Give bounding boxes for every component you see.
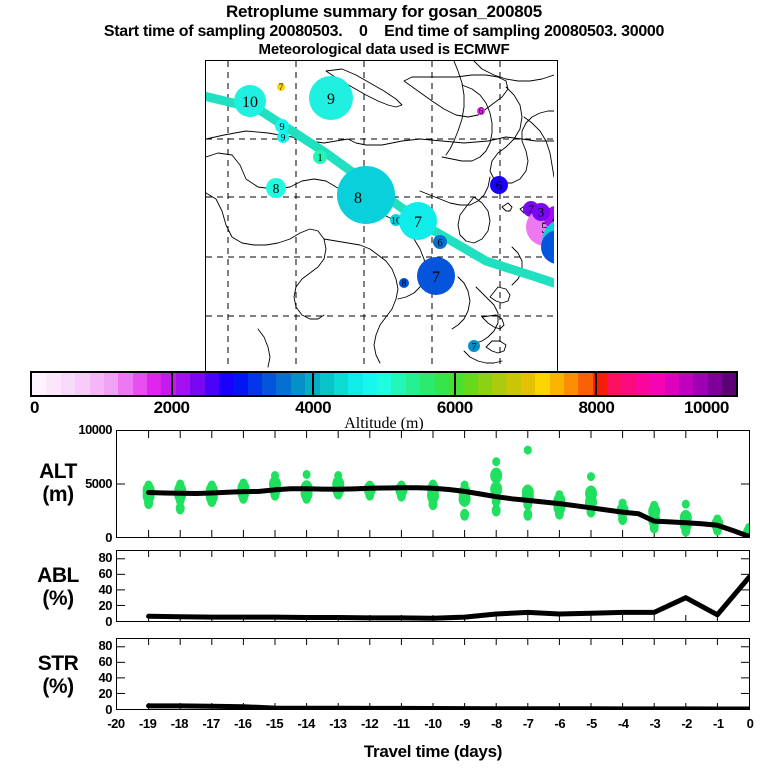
x-tick-label: -11 — [386, 716, 416, 731]
str-panel[interactable] — [116, 638, 750, 710]
colorbar-major-tick — [312, 371, 314, 397]
colorbar-major-tick — [454, 371, 456, 397]
x-tick-label: -9 — [450, 716, 480, 731]
alt-plot — [117, 431, 749, 537]
str-ytick-label: 0 — [105, 702, 112, 717]
abl-plot — [117, 551, 749, 621]
colorbar-band-15 — [248, 373, 262, 395]
colorbar-band-28 — [435, 373, 449, 395]
x-tick-label: -6 — [545, 716, 575, 731]
str-ytick-label: 20 — [99, 686, 112, 701]
timeseries-section: ALT (m) 0500010000 ABL (%) 020406080 STR… — [0, 424, 768, 768]
colorbar-band-27 — [420, 373, 434, 395]
map-marker: 9 — [277, 131, 289, 143]
marker-label: 3 — [538, 206, 544, 220]
abl-ytick-label: 80 — [99, 550, 112, 565]
colorbar-band-31 — [478, 373, 492, 395]
colorbar-band-9 — [161, 373, 175, 395]
colorbar-band-12 — [205, 373, 219, 395]
str-label-line2: (%) — [8, 675, 108, 698]
x-tick-label: -12 — [355, 716, 385, 731]
map-marker: 7 — [468, 340, 480, 352]
marker-label: 6 — [437, 238, 442, 249]
map-marker: 7 — [277, 82, 285, 92]
alt-scatter-blob — [176, 502, 185, 514]
colorbar-band-29 — [449, 373, 463, 395]
marker-label: 8 — [273, 181, 280, 196]
colorbar-band-48 — [722, 373, 736, 395]
title-block: Retroplume summary for gosan_200805 Star… — [0, 2, 768, 59]
map-marker: 6 — [490, 176, 508, 194]
colorbar-band-33 — [506, 373, 520, 395]
colorbar-band-4 — [90, 373, 104, 395]
alt-ytick-label: 10000 — [78, 422, 112, 437]
abl-row-label: ABL (%) — [8, 564, 108, 610]
marker-label: 9 — [281, 132, 286, 143]
x-tick-label: -8 — [481, 716, 511, 731]
sampling-time-line: Start time of sampling 20080503. 0 End t… — [0, 22, 768, 41]
marker-label: 7 — [279, 82, 284, 92]
abl-ytick-label: 60 — [99, 566, 112, 581]
colorbar-band-14 — [233, 373, 247, 395]
alt-scatter-blob — [302, 492, 311, 504]
colorbar-band-20 — [320, 373, 334, 395]
alt-scatter-blob — [492, 457, 500, 466]
altitude-colorbar: 0200040006000800010000 Altitude (m) — [30, 371, 738, 397]
colorbar-band-10 — [176, 373, 190, 395]
colorbar-band-16 — [262, 373, 276, 395]
colorbar-major-tick — [171, 371, 173, 397]
map-svg: 107969918881076677875435546352642445 — [206, 61, 554, 368]
x-tick-label: -19 — [133, 716, 163, 731]
marker-label: 1 — [317, 153, 322, 164]
colorbar-band-13 — [219, 373, 233, 395]
abl-ytick-label: 0 — [105, 614, 112, 629]
x-tick-label: -14 — [291, 716, 321, 731]
alt-scatter-blob — [587, 472, 595, 481]
x-tick-label: -13 — [323, 716, 353, 731]
marker-label: 10 — [242, 94, 258, 111]
marker-label: 6 — [496, 179, 502, 193]
map-marker: 3 — [532, 203, 550, 221]
map-marker: 9 — [275, 119, 289, 133]
alt-scatter-blob — [144, 497, 153, 509]
str-ytick-label: 80 — [99, 638, 112, 653]
meteorological-data-line: Meteorological data used is ECMWF — [0, 41, 768, 59]
x-tick-label: -17 — [196, 716, 226, 731]
colorbar-gradient — [30, 371, 738, 397]
colorbar-band-32 — [492, 373, 506, 395]
alt-scatter-blob — [460, 509, 469, 521]
abl-ytick-label: 20 — [99, 598, 112, 613]
x-tick-label: -10 — [418, 716, 448, 731]
alt-scatter-blob — [490, 468, 502, 484]
str-plot — [117, 639, 749, 709]
x-tick-label: -4 — [608, 716, 638, 731]
colorbar-band-41 — [621, 373, 635, 395]
alt-scatter-blob — [397, 490, 406, 502]
colorbar-band-34 — [521, 373, 535, 395]
map-marker: 8 — [345, 184, 371, 210]
map-marker: 8 — [266, 178, 286, 198]
colorbar-band-43 — [650, 373, 664, 395]
colorbar-band-21 — [334, 373, 348, 395]
map-marker: 7 — [417, 257, 455, 295]
x-tick-label: 0 — [735, 716, 765, 731]
colorbar-band-26 — [406, 373, 420, 395]
colorbar-band-42 — [636, 373, 650, 395]
alt-scatter-blob — [303, 470, 311, 479]
abl-ytick-label: 40 — [99, 582, 112, 597]
map-marker: 1 — [313, 150, 327, 164]
colorbar-major-tick — [595, 371, 597, 397]
alt-ytick-label: 0 — [105, 530, 112, 545]
colorbar-band-7 — [133, 373, 147, 395]
colorbar-band-1 — [46, 373, 60, 395]
colorbar-band-22 — [348, 373, 362, 395]
colorbar-band-47 — [708, 373, 722, 395]
colorbar-band-36 — [550, 373, 564, 395]
marker-label: 9 — [327, 91, 335, 108]
x-tick-label: -2 — [672, 716, 702, 731]
colorbar-band-40 — [607, 373, 621, 395]
x-tick-label: -18 — [164, 716, 194, 731]
abl-label-line1: ABL — [8, 564, 108, 587]
alt-scatter-blob — [429, 498, 438, 510]
x-tick-label: -5 — [577, 716, 607, 731]
x-axis-label: Travel time (days) — [116, 742, 750, 762]
marker-label: 8 — [402, 278, 407, 288]
colorbar-band-24 — [377, 373, 391, 395]
x-tick-label: -16 — [228, 716, 258, 731]
alt-scatter-blob — [524, 446, 532, 455]
colorbar-band-0 — [32, 373, 46, 395]
str-row-label: STR (%) — [8, 652, 108, 698]
x-tick-label: -15 — [260, 716, 290, 731]
abl-line — [149, 577, 749, 618]
colorbar-band-46 — [693, 373, 707, 395]
alt-scatter-blob — [523, 509, 532, 521]
colorbar-band-3 — [75, 373, 89, 395]
map-marker: 9 — [309, 76, 353, 120]
colorbar-band-38 — [578, 373, 592, 395]
colorbar-band-18 — [291, 373, 305, 395]
colorbar-band-37 — [564, 373, 578, 395]
colorbar-band-6 — [118, 373, 132, 395]
colorbar-band-2 — [61, 373, 75, 395]
abl-panel[interactable] — [116, 550, 750, 622]
x-tick-label: -20 — [101, 716, 131, 731]
colorbar-band-30 — [463, 373, 477, 395]
alt-ytick-label: 5000 — [85, 476, 112, 491]
colorbar-band-11 — [190, 373, 204, 395]
marker-layer: 107969918881076677875435546352642445 — [234, 76, 554, 352]
str-label-line1: STR — [8, 652, 108, 675]
retroplume-map[interactable]: 107969918881076677875435546352642445 — [205, 60, 558, 372]
map-marker: 7 — [399, 202, 437, 240]
alt-scatter-blob — [555, 508, 564, 520]
colorbar-band-8 — [147, 373, 161, 395]
marker-label: 7 — [432, 269, 440, 286]
abl-label-line2: (%) — [8, 587, 108, 610]
alt-scatter-blob — [681, 525, 690, 537]
alt-scatter-blob — [207, 495, 216, 507]
x-tick-label: -1 — [703, 716, 733, 731]
map-marker: 8 — [399, 278, 409, 288]
marker-label: 6 — [479, 106, 484, 116]
colorbar-band-45 — [679, 373, 693, 395]
page-title: Retroplume summary for gosan_200805 — [0, 2, 768, 22]
x-tick-label: -7 — [513, 716, 543, 731]
colorbar-band-23 — [363, 373, 377, 395]
map-marker: 10 — [234, 85, 266, 117]
str-ytick-label: 40 — [99, 670, 112, 685]
alt-scatter-blob — [492, 505, 501, 517]
colorbar-band-44 — [665, 373, 679, 395]
colorbar-band-17 — [276, 373, 290, 395]
alt-scatter-blob — [682, 500, 690, 509]
str-ytick-label: 60 — [99, 654, 112, 669]
map-marker: 6 — [477, 106, 485, 116]
x-tick-label: -3 — [640, 716, 670, 731]
marker-label: 8 — [354, 190, 362, 207]
marker-label: 7 — [414, 214, 422, 231]
marker-label: 7 — [472, 341, 477, 352]
alt-panel[interactable] — [116, 430, 750, 538]
map-marker: 6 — [433, 235, 447, 249]
str-line — [149, 706, 749, 709]
colorbar-band-5 — [104, 373, 118, 395]
colorbar-band-35 — [535, 373, 549, 395]
colorbar-band-25 — [391, 373, 405, 395]
